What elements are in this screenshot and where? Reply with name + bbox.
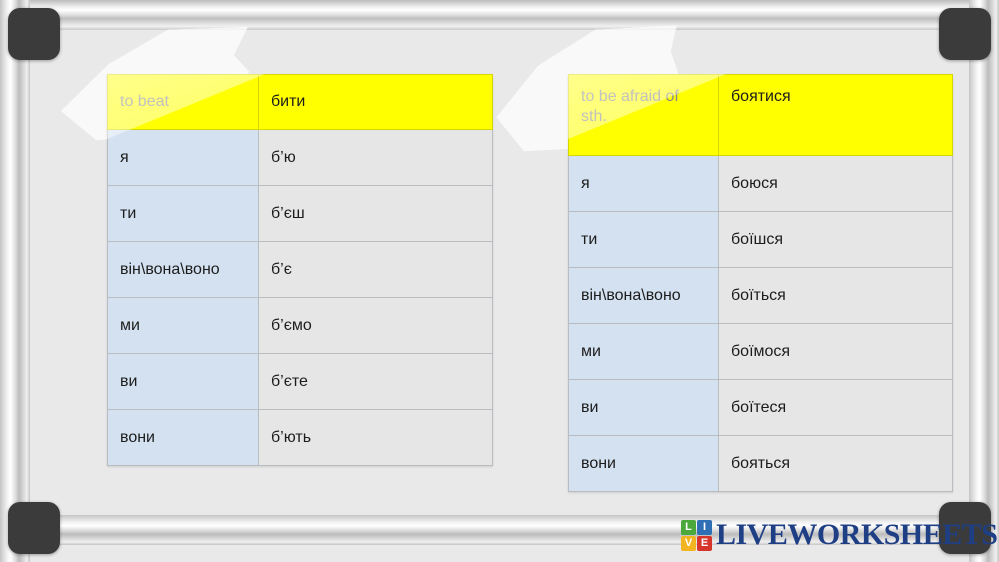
table-row: ми б’ємо bbox=[108, 298, 493, 354]
live-blocks-icon: L I V E bbox=[681, 520, 712, 551]
table-row: він\вона\воно боїться bbox=[569, 268, 953, 324]
table-row: вони бояться bbox=[569, 436, 953, 492]
verb-form-cell: бояться bbox=[719, 436, 953, 492]
table-row: ти б’єш bbox=[108, 186, 493, 242]
verb-form-cell: б’єш bbox=[259, 186, 493, 242]
logo-block-v: V bbox=[681, 536, 696, 551]
pronoun-cell: вони bbox=[569, 436, 719, 492]
table-row: вони б’ють bbox=[108, 410, 493, 466]
verb-form-cell: боюся bbox=[719, 156, 953, 212]
table-row: ми боїмося bbox=[569, 324, 953, 380]
verb-form-cell: б’ю bbox=[259, 130, 493, 186]
table-row: я б’ю bbox=[108, 130, 493, 186]
header-ukrainian-label: бити bbox=[259, 75, 493, 130]
verb-form-cell: боїмося bbox=[719, 324, 953, 380]
worksheet-canvas: to beat бити я б’ю ти б’єш він\вона\воно… bbox=[0, 0, 999, 562]
frame-bar-right bbox=[969, 0, 999, 562]
conjugation-table-to-beat: to beat бити я б’ю ти б’єш він\вона\воно… bbox=[107, 74, 493, 466]
logo-block-i: I bbox=[697, 520, 712, 535]
verb-form-cell: боїтеся bbox=[719, 380, 953, 436]
table-row: він\вона\воно б’є bbox=[108, 242, 493, 298]
pronoun-cell: я bbox=[108, 130, 259, 186]
conjugation-table-to-be-afraid: to be afraid of sth. боятися я боюся ти … bbox=[568, 74, 953, 492]
logo-wordmark: LIVEWORKSHEETS bbox=[716, 518, 997, 552]
frame-corner-top-right bbox=[939, 8, 991, 60]
pronoun-cell: ти bbox=[108, 186, 259, 242]
pronoun-cell: ви bbox=[108, 354, 259, 410]
pronoun-cell: ми bbox=[569, 324, 719, 380]
verb-form-cell: б’єте bbox=[259, 354, 493, 410]
pronoun-cell: ми bbox=[108, 298, 259, 354]
table-row: я боюся bbox=[569, 156, 953, 212]
header-english-label: to beat bbox=[108, 75, 259, 130]
frame-corner-top-left bbox=[8, 8, 60, 60]
frame-bar-left bbox=[0, 0, 30, 562]
logo-block-l: L bbox=[681, 520, 696, 535]
header-english-label: to be afraid of sth. bbox=[569, 75, 719, 156]
liveworksheets-logo[interactable]: L I V E LIVEWORKSHEETS bbox=[681, 518, 997, 552]
pronoun-cell: ти bbox=[569, 212, 719, 268]
verb-form-cell: б’ють bbox=[259, 410, 493, 466]
pronoun-cell: він\вона\воно bbox=[108, 242, 259, 298]
pronoun-cell: я bbox=[569, 156, 719, 212]
verb-form-cell: боїться bbox=[719, 268, 953, 324]
table-row: ви боїтеся bbox=[569, 380, 953, 436]
table-row: ви б’єте bbox=[108, 354, 493, 410]
table-header-row: to be afraid of sth. боятися bbox=[569, 75, 953, 156]
logo-block-e: E bbox=[697, 536, 712, 551]
verb-form-cell: б’є bbox=[259, 242, 493, 298]
frame-bar-top bbox=[0, 0, 999, 30]
verb-form-cell: боїшся bbox=[719, 212, 953, 268]
pronoun-cell: ви bbox=[569, 380, 719, 436]
header-ukrainian-label: боятися bbox=[719, 75, 953, 156]
table-header-row: to beat бити bbox=[108, 75, 493, 130]
verb-form-cell: б’ємо bbox=[259, 298, 493, 354]
table-row: ти боїшся bbox=[569, 212, 953, 268]
pronoun-cell: вони bbox=[108, 410, 259, 466]
frame-corner-bottom-left bbox=[8, 502, 60, 554]
pronoun-cell: він\вона\воно bbox=[569, 268, 719, 324]
